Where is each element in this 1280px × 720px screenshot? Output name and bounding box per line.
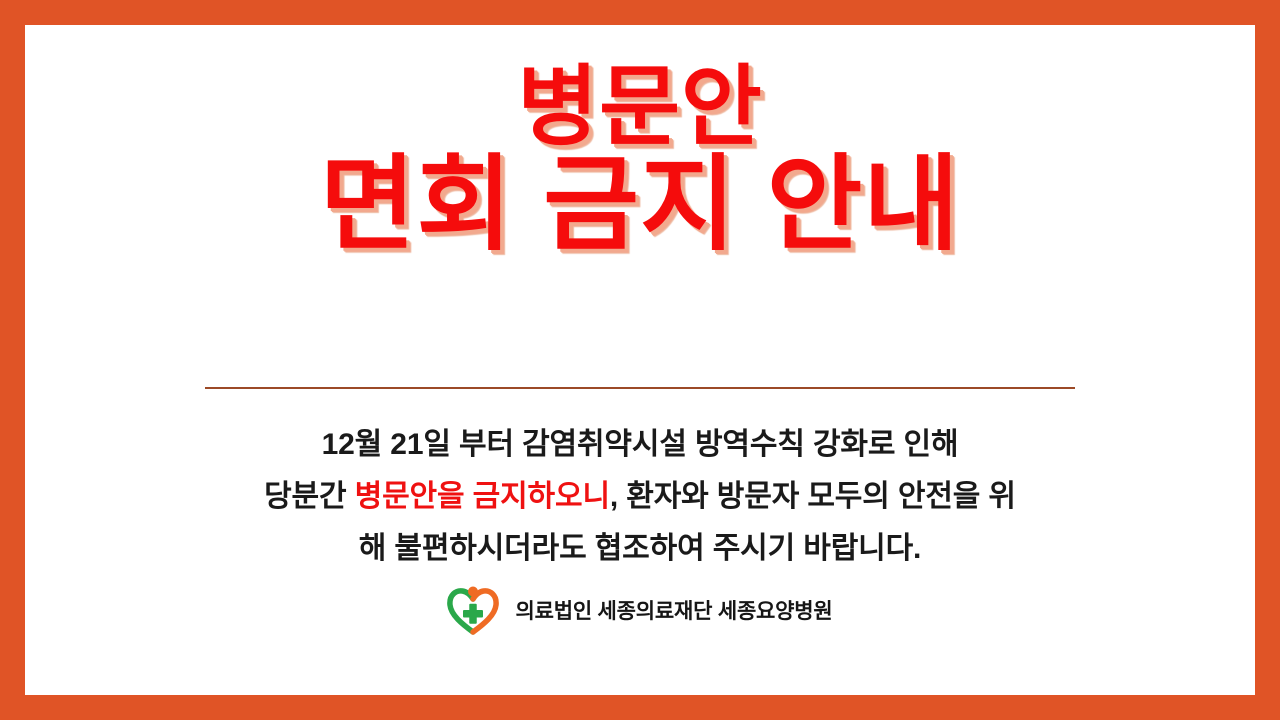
notice-body-line-1: 12월 21일 부터 감염취약시설 방역수칙 강화로 인해: [25, 419, 1255, 471]
divider-container: [25, 387, 1255, 389]
notice-line2-highlight: 병문안을 금지하오니: [355, 480, 610, 513]
notice-line2-suffix: , 환자와 방문자 모두의 안전을 위: [610, 480, 1016, 513]
poster-canvas: 병문안 면회 금지 안내 12월 21일 부터 감염취약시설 방역수칙 강화로 …: [25, 25, 1255, 695]
brand-footer: 의료법인 세종의료재단 세종요양병원: [25, 585, 1255, 635]
notice-line2-prefix: 당분간: [264, 480, 355, 513]
notice-body: 12월 21일 부터 감염취약시설 방역수칙 강화로 인해 당분간 병문안을 금…: [25, 419, 1255, 575]
notice-body-line-3: 해 불편하시더라도 협조하여 주시기 바랍니다.: [25, 523, 1255, 575]
headline-line-1: 병문안: [25, 63, 1255, 151]
headline: 병문안 면회 금지 안내: [25, 63, 1255, 257]
horizontal-divider: [205, 387, 1075, 389]
poster-frame: 병문안 면회 금지 안내 12월 21일 부터 감염취약시설 방역수칙 강화로 …: [0, 0, 1280, 720]
heart-cross-hospital-logo-icon: [447, 585, 499, 635]
headline-line-2: 면회 금지 안내: [25, 153, 1255, 257]
notice-body-line-2: 당분간 병문안을 금지하오니, 환자와 방문자 모두의 안전을 위: [25, 471, 1255, 523]
organization-name: 의료법인 세종의료재단 세종요양병원: [515, 595, 832, 625]
